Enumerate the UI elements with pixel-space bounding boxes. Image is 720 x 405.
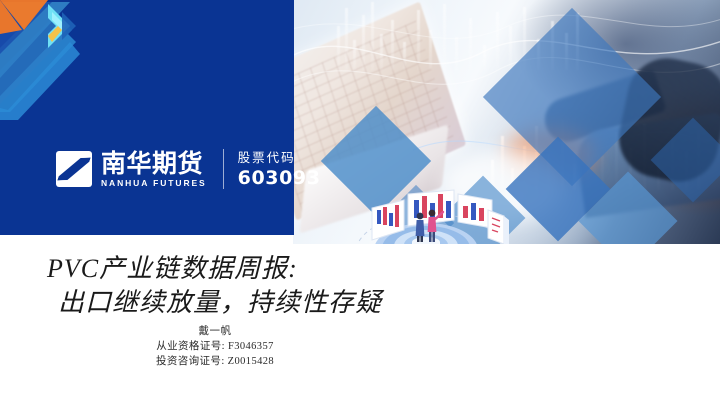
report-title-line1: PVC产业链数据周报:	[47, 248, 298, 285]
author-qualification: 从业资格证号: F3046357	[0, 339, 430, 354]
corner-geometry-decoration	[0, 0, 130, 120]
brand-name-en: NANHUA FUTURES	[101, 178, 207, 189]
title-area: PVC产业链数据周报: 出口继续放量，持续性存疑 戴一帆 从业资格证号: F30…	[0, 244, 720, 405]
brand-logo-block: 南华期货 NANHUA FUTURES 股票代码 603093	[56, 143, 321, 195]
cover-banner: 南华期货 NANHUA FUTURES 股票代码 603093	[0, 0, 720, 244]
report-title-line2: 出口继续放量，持续性存疑	[58, 282, 382, 319]
stock-code-label: 股票代码	[238, 150, 321, 166]
magnifier-dashboard-illustration	[368, 186, 558, 244]
author-name: 戴一帆	[0, 324, 430, 339]
nanhua-diamond-logo-icon	[56, 151, 92, 187]
cover-slide: 南华期货 NANHUA FUTURES 股票代码 603093 PVC产业链数据…	[0, 0, 720, 405]
author-consulting: 投资咨询证号: Z0015428	[0, 354, 430, 369]
stock-code-value: 603093	[238, 167, 321, 189]
brand-logo-text: 南华期货 NANHUA FUTURES	[101, 150, 207, 189]
brand-divider	[223, 149, 224, 189]
dashboard-card-right	[458, 194, 492, 228]
brand-name-cn: 南华期货	[101, 150, 207, 177]
stock-code-block: 股票代码 603093	[238, 150, 321, 189]
dashboard-card-flag	[488, 210, 509, 244]
author-block: 戴一帆 从业资格证号: F3046357 投资咨询证号: Z0015428	[0, 324, 430, 369]
